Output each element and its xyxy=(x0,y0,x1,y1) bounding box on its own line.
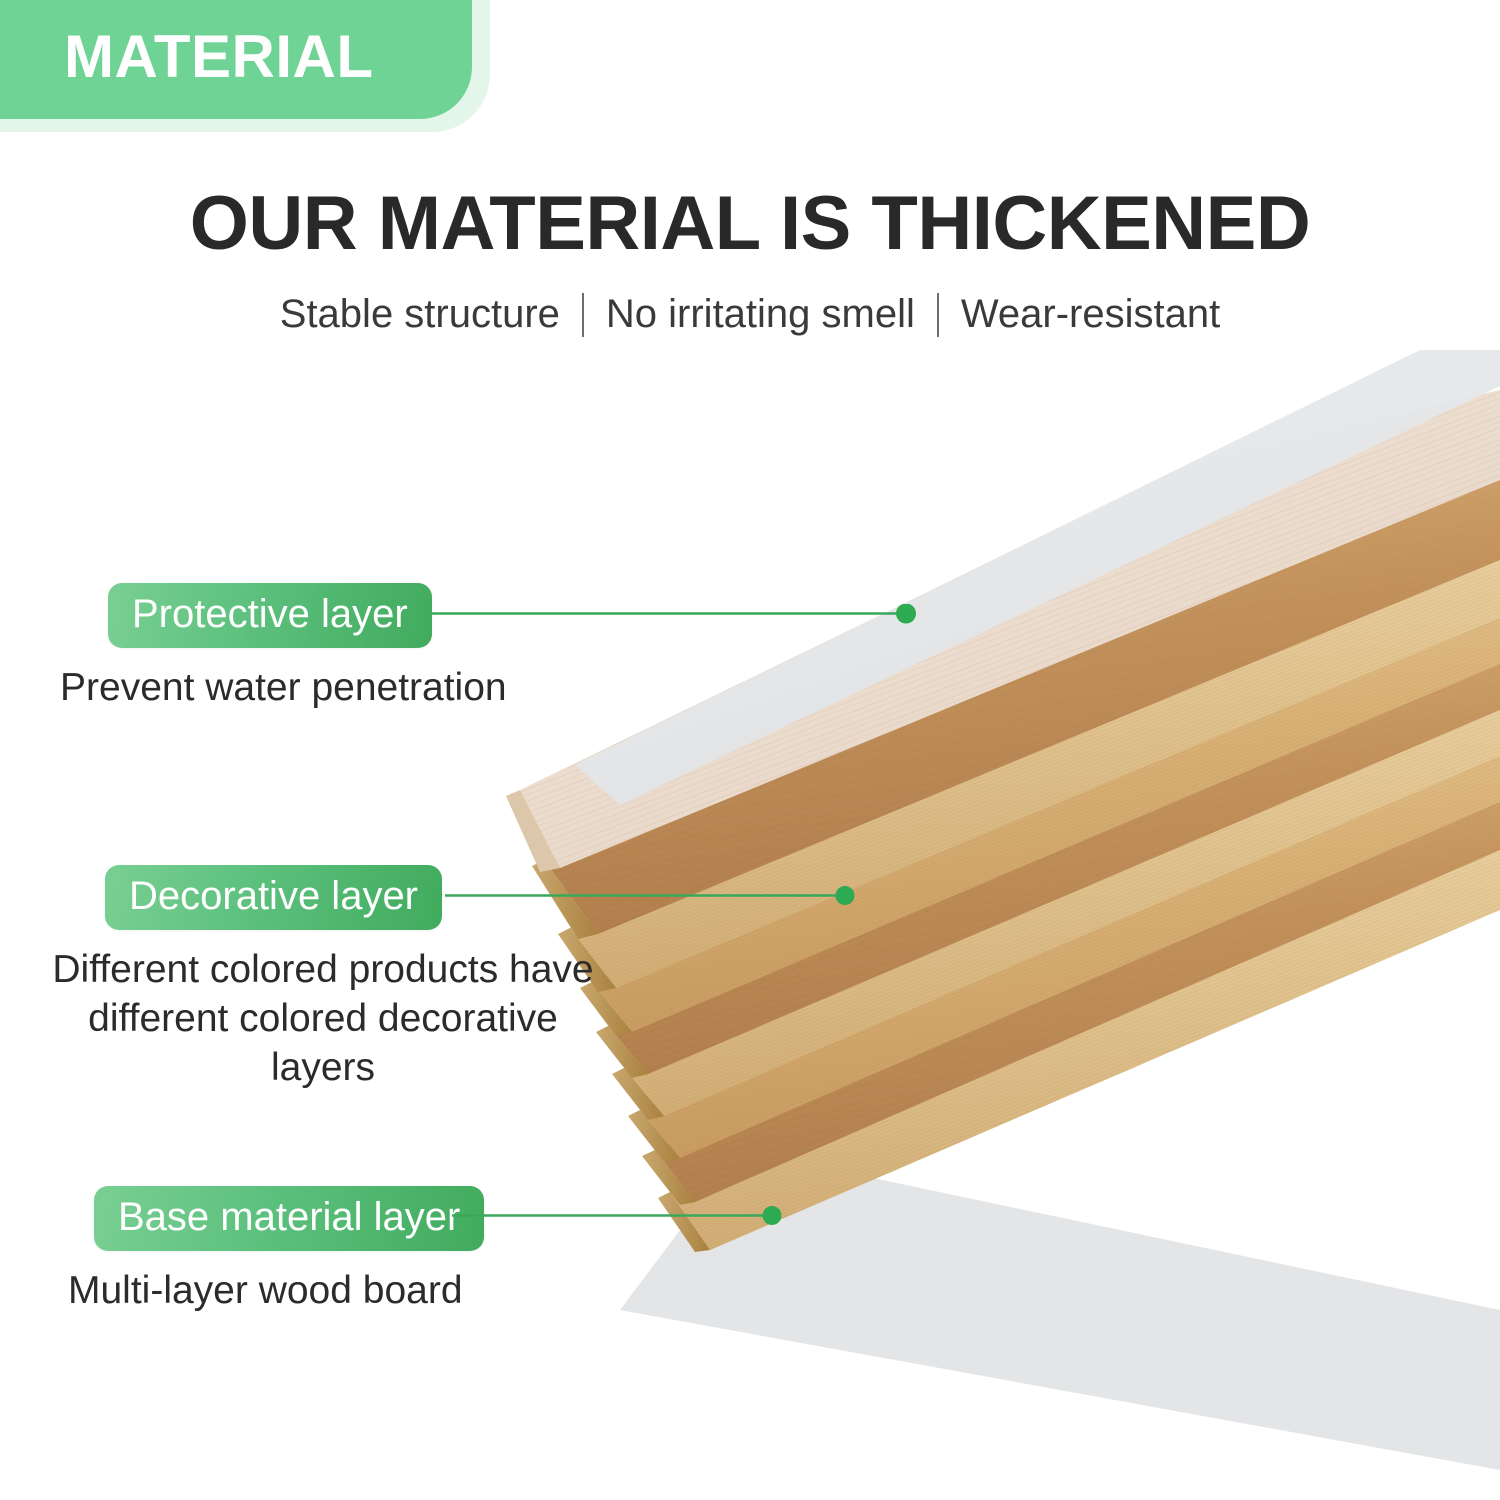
product-layer-illustration xyxy=(500,350,1500,1470)
callout-description-decorative-layer: Different colored products have differen… xyxy=(43,946,603,1092)
subtitle-item-2: No irritating smell xyxy=(606,292,915,337)
subtitle-item-3: Wear-resistant xyxy=(961,292,1220,337)
leader-line-base-material-layer xyxy=(452,1206,802,1226)
infographic-page: MATERIAL OUR MATERIAL IS THICKENED Stabl… xyxy=(0,0,1500,1500)
callout-label-decorative-layer: Decorative layer xyxy=(105,865,442,930)
subtitle-row: Stable structure No irritating smell Wea… xyxy=(0,292,1500,337)
header-badge: MATERIAL xyxy=(0,0,472,119)
callout-protective-layer: Protective layer Prevent water penetrati… xyxy=(108,583,507,713)
callout-label-base-material-layer: Base material layer xyxy=(94,1186,484,1251)
subtitle-divider-icon xyxy=(937,293,939,337)
subtitle-divider-icon xyxy=(582,293,584,337)
leader-line-decorative-layer xyxy=(445,886,865,906)
page-title: OUR MATERIAL IS THICKENED xyxy=(0,180,1500,267)
callout-description-base-material-layer: Multi-layer wood board xyxy=(68,1267,484,1316)
header-badge-label: MATERIAL xyxy=(64,27,374,87)
callout-base-material-layer: Base material layer Multi-layer wood boa… xyxy=(94,1186,484,1316)
leader-line-protective-layer xyxy=(432,604,922,624)
subtitle-item-1: Stable structure xyxy=(280,292,560,337)
callout-label-protective-layer: Protective layer xyxy=(108,583,432,648)
callout-description-protective-layer: Prevent water penetration xyxy=(60,664,507,713)
